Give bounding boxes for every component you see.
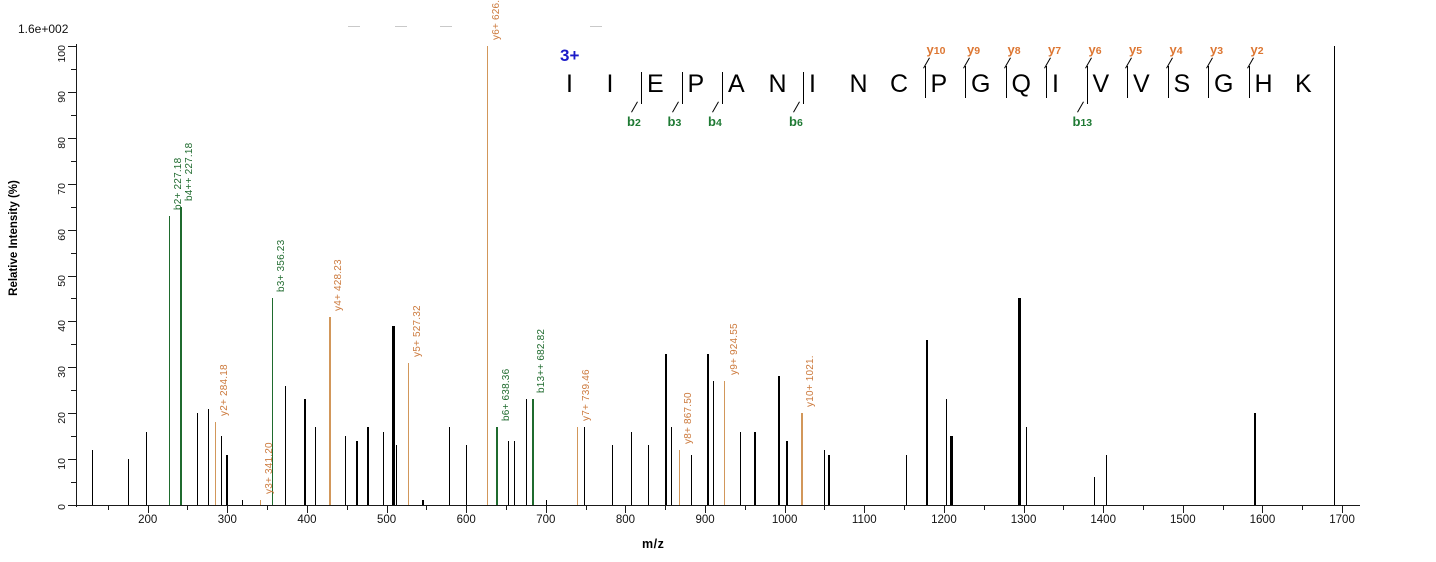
- spectrum-peak[interactable]: [356, 441, 357, 505]
- x-tick-minor: [586, 506, 587, 510]
- x-tick: [1183, 506, 1184, 513]
- spectrum-peak[interactable]: [304, 399, 307, 505]
- spectrum-peak[interactable]: [329, 317, 330, 505]
- y-tick-label: 0: [56, 504, 68, 544]
- y-ion-tag: y5: [1129, 42, 1142, 57]
- sequence-residue: N: [769, 70, 787, 99]
- x-tick: [705, 506, 706, 513]
- b-ion-cleavage-tick: [803, 72, 804, 104]
- spectrum-peak[interactable]: [146, 432, 147, 505]
- y-tick-label: 60: [56, 229, 68, 269]
- y-tick: [68, 505, 76, 506]
- peak-annotation-label: y8+ 867.50: [683, 392, 694, 444]
- x-tick-label: 1400: [1073, 514, 1133, 526]
- x-tick: [1342, 506, 1343, 513]
- spectrum-peak[interactable]: [92, 450, 93, 505]
- spectrum-peak[interactable]: [169, 216, 170, 505]
- x-tick: [785, 506, 786, 513]
- x-tick-minor: [108, 506, 109, 510]
- spectrum-peak[interactable]: [383, 432, 384, 505]
- y-tick: [68, 321, 76, 322]
- x-tick: [466, 506, 467, 513]
- y-tick: [68, 413, 76, 414]
- b-ion-tag: b3: [668, 114, 682, 129]
- y-ion-cleavage-tick: [925, 66, 926, 98]
- top-dash: [440, 26, 452, 27]
- spectrum-peak[interactable]: [946, 399, 947, 505]
- peak-annotation-label: y2+ 284.18: [219, 365, 230, 417]
- spectrum-peak[interactable]: [285, 386, 286, 505]
- spectrum-peak[interactable]: [906, 455, 907, 505]
- spectrum-peak[interactable]: [691, 455, 692, 505]
- spectrum-peak[interactable]: [197, 413, 198, 505]
- x-tick-label: 900: [675, 514, 735, 526]
- x-tick-label: 500: [357, 514, 417, 526]
- spectrum-peak[interactable]: [786, 441, 787, 505]
- y-tick-label: 20: [56, 412, 68, 452]
- spectrum-peak[interactable]: [532, 399, 533, 505]
- sequence-residue: I: [1052, 70, 1059, 99]
- sequence-residue: V: [1133, 70, 1150, 99]
- peak-annotation-label: y5+ 527.32: [412, 305, 423, 357]
- peak-annotation-label: y7+ 739.46: [581, 369, 592, 421]
- peak-annotation-label: y9+ 924.55: [729, 323, 740, 375]
- x-tick: [1024, 506, 1025, 513]
- spectrum-peak[interactable]: [713, 381, 714, 505]
- y-ion-cleavage-tick: [1127, 66, 1128, 98]
- x-tick: [546, 506, 547, 513]
- y-ion-cleavage-tick: [1046, 66, 1047, 98]
- x-tick-label: 1600: [1232, 514, 1292, 526]
- x-tick: [227, 506, 228, 513]
- x-tick-label: 700: [516, 514, 576, 526]
- sequence-residue: I: [607, 70, 614, 99]
- x-tick-minor: [1223, 506, 1224, 510]
- spectrum-viewer: 1.6e+002 Relative Intensity (%) m/z 0102…: [0, 0, 1436, 562]
- peak-annotation-label: y6+ 626.38: [491, 0, 502, 40]
- peak-annotation-label: y4+ 428.23: [333, 259, 344, 311]
- y-tick-label: 90: [56, 91, 68, 131]
- y-tick-label: 40: [56, 320, 68, 360]
- spectrum-peak[interactable]: [508, 441, 509, 505]
- spectrum-peak[interactable]: [1254, 413, 1255, 505]
- y-tick: [68, 230, 76, 231]
- x-tick: [387, 506, 388, 513]
- spectrum-peak[interactable]: [466, 445, 467, 505]
- spectrum-peak[interactable]: [1018, 298, 1021, 505]
- x-tick-label: 600: [436, 514, 496, 526]
- y-tick: [68, 459, 76, 460]
- peak-annotation-label: y10+ 1021.: [805, 355, 816, 407]
- spectrum-peak[interactable]: [422, 500, 423, 505]
- y-tick-label: 70: [56, 183, 68, 223]
- y-tick-label: 80: [56, 137, 68, 177]
- spectrum-peak[interactable]: [778, 376, 779, 505]
- spectrum-peak[interactable]: [180, 207, 181, 505]
- y-tick: [68, 184, 76, 185]
- spectrum-peak[interactable]: [221, 436, 222, 505]
- y-tick: [68, 367, 76, 368]
- y-ion-tag: y6: [1089, 42, 1102, 57]
- x-tick-label: 300: [197, 514, 257, 526]
- x-tick-minor: [665, 506, 666, 510]
- spectrum-peak[interactable]: [1026, 427, 1027, 505]
- spectrum-peak[interactable]: [754, 432, 755, 505]
- x-tick-minor: [187, 506, 188, 510]
- y-ion-cleavage-tick: [965, 66, 966, 98]
- spectrum-peak[interactable]: [215, 422, 216, 505]
- spectrum-peak[interactable]: [577, 427, 578, 505]
- spectrum-peak[interactable]: [487, 46, 488, 505]
- y-ion-cleavage-tick: [1087, 66, 1088, 98]
- x-tick: [625, 506, 626, 513]
- y-tick-label: 30: [56, 366, 68, 406]
- peak-annotation-label: y3+ 341.20: [264, 443, 275, 495]
- x-tick-label: 1000: [755, 514, 815, 526]
- x-tick: [148, 506, 149, 513]
- spectrum-peak[interactable]: [1334, 46, 1335, 505]
- spectrum-peak[interactable]: [707, 354, 708, 505]
- spectrum-peak[interactable]: [260, 500, 261, 505]
- sequence-residue: H: [1255, 70, 1273, 99]
- y-ion-cleavage-tick: [1006, 66, 1007, 98]
- spectrum-peak[interactable]: [671, 427, 672, 505]
- spectrum-peak[interactable]: [226, 455, 227, 505]
- sequence-residue: A: [728, 70, 745, 99]
- y-tick: [68, 46, 76, 47]
- y-ion-tag: y7: [1048, 42, 1061, 57]
- base-peak-intensity-label: 1.6e+002: [18, 22, 68, 36]
- x-tick-label: 1100: [834, 514, 894, 526]
- x-tick-minor: [1063, 506, 1064, 510]
- sequence-residue: V: [1093, 70, 1110, 99]
- b-ion-cleavage-tick: [722, 72, 723, 104]
- sequence-residue: Q: [1012, 70, 1031, 99]
- x-tick-label: 400: [277, 514, 337, 526]
- spectrum-peak[interactable]: [631, 432, 632, 505]
- spectrum-peak[interactable]: [679, 450, 680, 505]
- spectrum-peak[interactable]: [1106, 455, 1107, 505]
- spectrum-peak[interactable]: [546, 500, 547, 505]
- top-dash: [395, 26, 407, 27]
- b-ion-tag: b4: [708, 114, 722, 129]
- y-tick: [68, 92, 76, 93]
- spectrum-peak[interactable]: [449, 427, 450, 505]
- spectrum-peak[interactable]: [824, 450, 825, 505]
- x-tick-minor: [745, 506, 746, 510]
- x-tick-minor: [824, 506, 825, 510]
- spectrum-peak[interactable]: [128, 459, 129, 505]
- y-tick-label: 50: [56, 275, 68, 315]
- x-tick-label: 1300: [994, 514, 1054, 526]
- peak-annotation-label: b3+ 356.23: [276, 240, 287, 292]
- x-tick: [944, 506, 945, 513]
- spectrum-peak[interactable]: [926, 340, 927, 505]
- spectrum-peak[interactable]: [724, 381, 725, 505]
- x-tick: [864, 506, 865, 513]
- y-ion-cleavage-tick: [1168, 66, 1169, 98]
- sequence-residue: E: [647, 70, 664, 99]
- spectrum-peak[interactable]: [612, 445, 613, 505]
- x-tick-minor: [267, 506, 268, 510]
- b-ion-cleavage-tick: [682, 72, 683, 104]
- sequence-residue: I: [809, 70, 816, 99]
- sequence-residue: G: [971, 70, 990, 99]
- x-tick-label: 1500: [1153, 514, 1213, 526]
- spectrum-peak[interactable]: [526, 399, 527, 505]
- y-tick: [68, 276, 76, 277]
- spectrum-peak[interactable]: [648, 445, 649, 505]
- b-ion-cleavage-tick: [641, 72, 642, 104]
- sequence-residue: S: [1174, 70, 1191, 99]
- peak-annotation-label: b6+ 638.36: [501, 369, 512, 421]
- x-tick-minor: [1143, 506, 1144, 510]
- x-tick-label: 800: [595, 514, 655, 526]
- spectrum-peak[interactable]: [392, 326, 395, 505]
- x-tick-minor: [1302, 506, 1303, 510]
- x-tick-minor: [904, 506, 905, 510]
- sequence-residue: I: [566, 70, 573, 99]
- y-ion-cleavage-tick: [1208, 66, 1209, 98]
- sequence-residue: P: [688, 70, 705, 99]
- top-dash: [590, 26, 602, 27]
- spectrum-peak[interactable]: [315, 427, 316, 505]
- sequence-residue: N: [850, 70, 868, 99]
- x-tick: [1103, 506, 1104, 513]
- x-tick-label: 200: [118, 514, 178, 526]
- x-tick-label: 1700: [1312, 514, 1372, 526]
- y-axis-title: Relative Intensity (%): [8, 158, 20, 318]
- peak-annotation-label: b4++ 227.18: [184, 142, 195, 200]
- spectrum-peak[interactable]: [242, 500, 243, 505]
- y-ion-tag: y2: [1251, 42, 1264, 57]
- x-tick-minor: [426, 506, 427, 510]
- x-tick: [1262, 506, 1263, 513]
- b-ion-tag: b2: [627, 114, 641, 129]
- x-tick-label: 1200: [914, 514, 974, 526]
- y-ion-tag: y10: [927, 42, 946, 57]
- y-ion-cleavage-tick: [1249, 66, 1250, 98]
- b-ion-tag: b13: [1073, 114, 1093, 129]
- sequence-residue: P: [931, 70, 948, 99]
- y-ion-tag: y4: [1170, 42, 1183, 57]
- peak-annotation-label: b13++ 682.82: [536, 329, 547, 393]
- spectrum-peak[interactable]: [396, 445, 397, 505]
- top-dash: [348, 26, 360, 27]
- y-tick: [68, 138, 76, 139]
- spectrum-peak[interactable]: [584, 427, 585, 505]
- spectrum-peak[interactable]: [496, 427, 497, 505]
- sequence-residue: C: [890, 70, 908, 99]
- b-ion-tag: b6: [789, 114, 803, 129]
- y-tick-label: 100: [56, 45, 68, 85]
- x-tick: [307, 506, 308, 513]
- spectrum-peak[interactable]: [514, 441, 515, 505]
- y-tick-label: 10: [56, 458, 68, 498]
- spectrum-peak[interactable]: [828, 455, 829, 505]
- sequence-residue: G: [1214, 70, 1233, 99]
- y-ion-tag: y3: [1210, 42, 1223, 57]
- spectrum-peak[interactable]: [1094, 477, 1095, 505]
- y-ion-tag: y8: [1008, 42, 1021, 57]
- spectrum-peak[interactable]: [740, 432, 741, 505]
- spectrum-peak[interactable]: [208, 409, 209, 505]
- spectrum-peak[interactable]: [345, 436, 346, 505]
- spectrum-peak[interactable]: [665, 354, 666, 505]
- x-tick-minor: [984, 506, 985, 510]
- charge-state-label: 3+: [560, 46, 579, 66]
- spectrum-peak[interactable]: [950, 436, 953, 505]
- spectrum-peak[interactable]: [408, 363, 409, 505]
- sequence-residue: K: [1295, 70, 1312, 99]
- spectrum-peak[interactable]: [367, 427, 368, 505]
- x-tick-minor: [347, 506, 348, 510]
- peak-annotation-label: b2+ 227.18: [173, 158, 184, 210]
- spectrum-peak[interactable]: [801, 413, 802, 505]
- y-ion-tag: y9: [967, 42, 980, 57]
- x-axis-title: m/z: [642, 537, 664, 551]
- x-tick-minor: [506, 506, 507, 510]
